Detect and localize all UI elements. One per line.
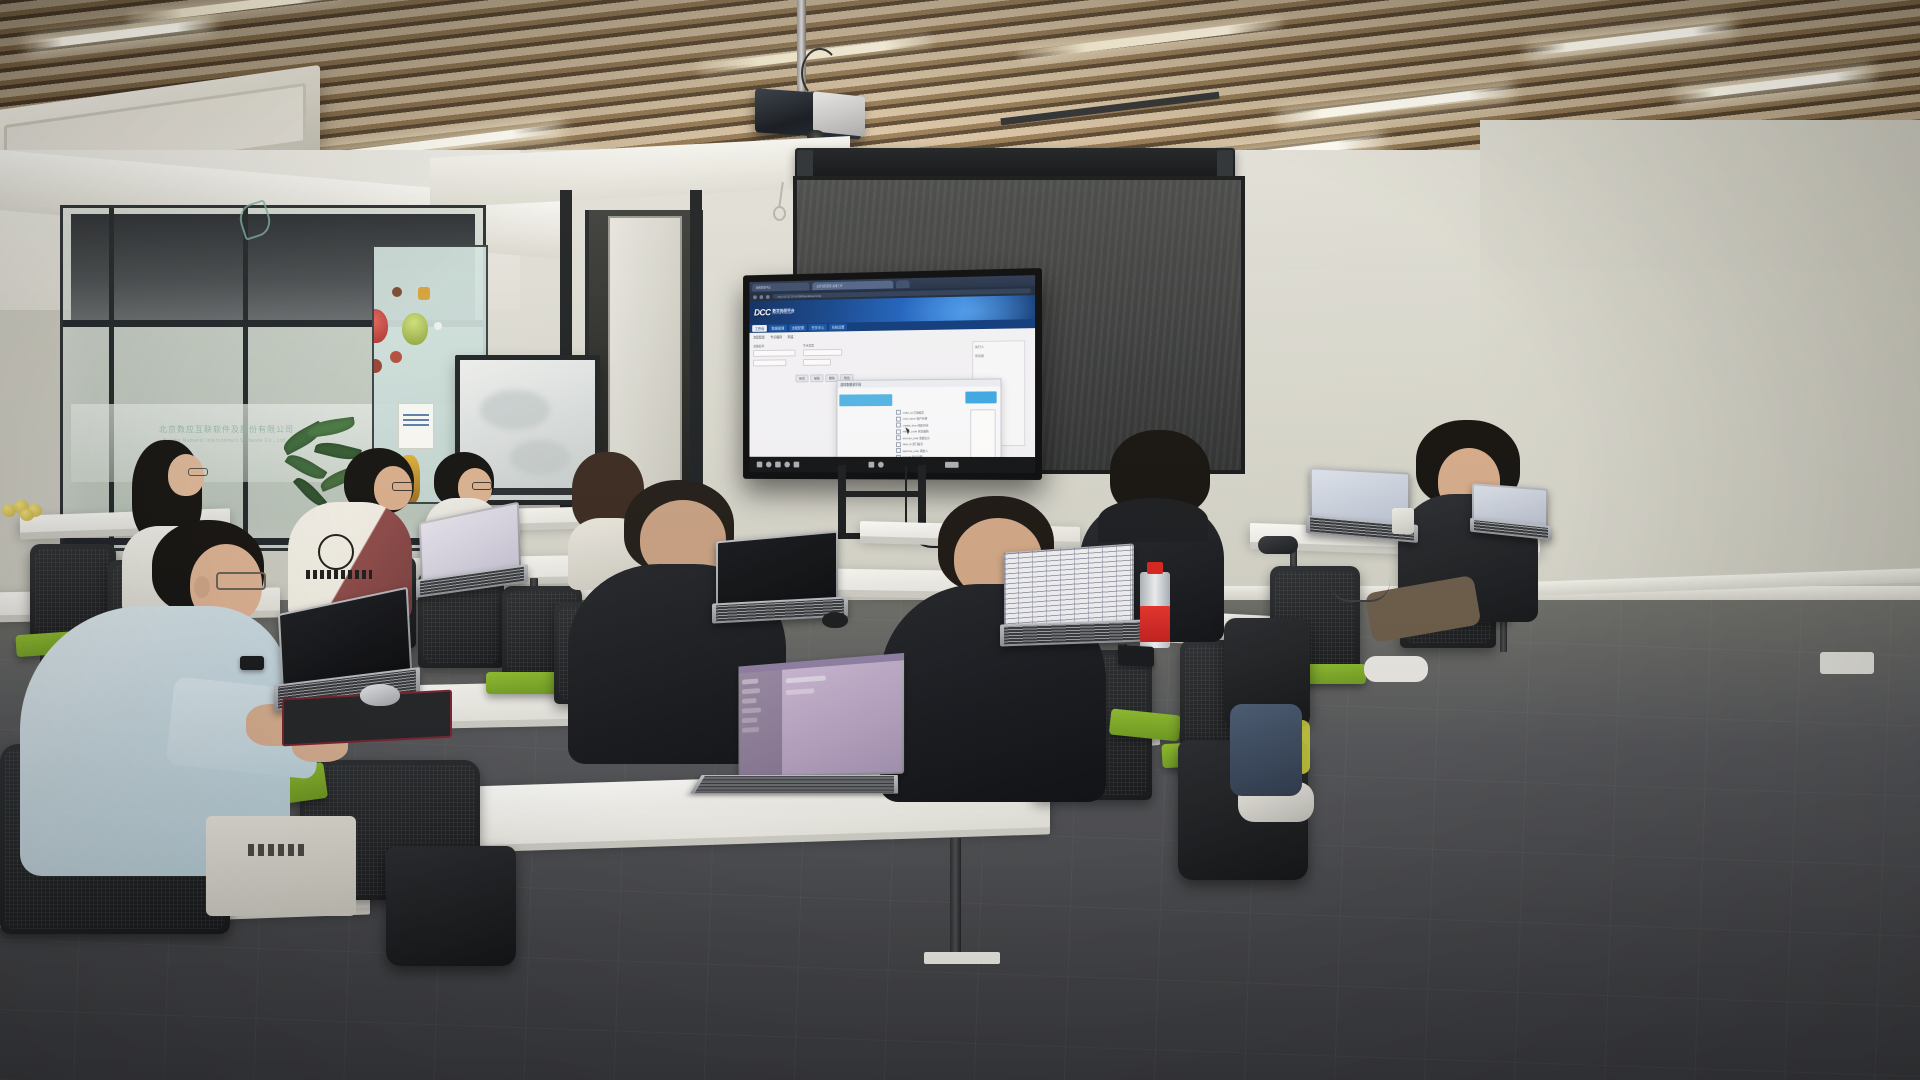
dialog-selected-list[interactable]: [970, 409, 995, 457]
cartoon-sticker: [392, 287, 402, 297]
tree-item-label: order_id 订单编号: [903, 410, 924, 414]
laptop[interactable]: [416, 512, 522, 592]
photo-scene: EXIT 北京数应互联软件及股份有限公司 Beijing Numeric Int…: [0, 0, 1920, 1080]
smartphone[interactable]: [1118, 645, 1154, 667]
tree-item[interactable]: amount_total 金额合计: [896, 435, 930, 440]
field-label: 节点类型: [803, 343, 814, 347]
jeans-leg: [1230, 704, 1302, 796]
breadcrumb-item: 新建: [788, 334, 794, 339]
water-bottle[interactable]: [1140, 562, 1170, 648]
cartoon-sticker: [372, 309, 388, 343]
tree-item-label: approve_user 审批人: [903, 449, 928, 453]
nav-item-settings[interactable]: 系统设置: [829, 323, 847, 330]
interactive-flat-panel-display[interactable]: 系统管理平台 业务流程配置 运维工单 http://10.20.30.41:80…: [743, 268, 1042, 480]
mouse[interactable]: [360, 684, 400, 706]
person-seated: [1398, 420, 1548, 670]
browser-tab-label: 业务流程配置 运维工单: [816, 283, 842, 287]
tree-item[interactable]: order_id 订单编号: [896, 410, 930, 415]
add-button[interactable]: 新增: [795, 375, 808, 383]
smartphone[interactable]: [240, 656, 264, 670]
power-strip: [1820, 652, 1874, 674]
browser-tab-active[interactable]: 业务流程配置 运维工单: [812, 280, 893, 290]
desk-leg: [950, 838, 961, 958]
apps-icon[interactable]: [775, 462, 781, 468]
laptop[interactable]: [1000, 548, 1140, 654]
app-content-area[interactable]: 流程配置 节点编排 新建 流程名称 节点类型 新增: [749, 328, 1035, 457]
dialog-title: 选择数据源字段: [837, 379, 1000, 387]
door-frame-right: [690, 190, 702, 520]
glasses-icon: [472, 482, 492, 490]
ear: [194, 576, 210, 598]
app-logo-mark: DCC: [754, 308, 771, 318]
hood: [1098, 498, 1208, 542]
field-picker-dialog[interactable]: 选择数据源字段 order_id 订单编号 cust_name 客户名称 cre…: [837, 378, 1002, 457]
mouse[interactable]: [822, 612, 848, 628]
wall-poster: [398, 403, 434, 449]
laptop[interactable]: [712, 536, 842, 626]
tree-item[interactable]: status_code 状态编码: [896, 429, 930, 434]
tree-item[interactable]: cust_name 客户名称: [896, 416, 930, 421]
shoe: [1364, 656, 1428, 682]
cartoon-sticker: [372, 359, 382, 373]
backpack: [386, 846, 516, 966]
app-logo: DCC 数字协同平台 DIGITAL COLLAB: [754, 307, 795, 317]
breadcrumb-item[interactable]: 流程配置: [753, 335, 765, 340]
dialog-search-input[interactable]: [839, 394, 892, 406]
cartoon-sticker: [390, 351, 402, 363]
tree-item[interactable]: dept_id 部门编号: [896, 442, 930, 447]
fruit-bowl: [0, 498, 52, 518]
cartoon-sticker: [434, 322, 442, 330]
field-input[interactable]: [753, 359, 786, 366]
conference-webcam: [1258, 536, 1298, 554]
edit-button[interactable]: 编辑: [810, 374, 823, 382]
tote-bag-text: [248, 844, 306, 856]
reload-icon[interactable]: [766, 295, 770, 299]
tote-bag: [206, 816, 356, 916]
desk-foot: [924, 952, 1000, 964]
right-panel-fields: 执行人 优先级: [975, 345, 984, 358]
ceiling-projector: [745, 0, 865, 140]
tree-item-label: cust_name 客户名称: [903, 417, 928, 421]
laptop-screen[interactable]: [740, 655, 902, 776]
laptop[interactable]: [1470, 486, 1550, 542]
tree-item-label: dept_id 部门编号: [903, 442, 923, 446]
partition-company-name-cn: 北京数应互联软件及股份有限公司: [159, 424, 294, 435]
laptop-base[interactable]: [1000, 619, 1146, 646]
browser-tab[interactable]: 系统管理平台: [752, 282, 809, 291]
url-text: http://10.20.30.41:8080/workflow/config: [778, 294, 822, 298]
browser-tab-label: 系统管理平台: [756, 285, 771, 289]
nav-item-flow[interactable]: 流程配置: [789, 324, 807, 331]
jacket-logo: [318, 534, 354, 570]
annotate-icon[interactable]: [784, 462, 790, 468]
laptop-screen[interactable]: [1006, 546, 1132, 633]
cable: [1330, 560, 1390, 602]
screen-pull-ring[interactable]: [773, 206, 786, 221]
back-icon[interactable]: [753, 295, 757, 299]
nav-item-tasks[interactable]: 任务中心: [809, 324, 827, 331]
form-mid-column[interactable]: 节点类型: [803, 343, 854, 366]
nav-item-data[interactable]: 数据管理: [769, 325, 787, 332]
forward-icon[interactable]: [760, 295, 764, 299]
field-label: 流程名称: [753, 344, 764, 348]
display-screen[interactable]: 系统管理平台 业务流程配置 运维工单 http://10.20.30.41:80…: [749, 275, 1035, 457]
dialog-field-tree[interactable]: order_id 订单编号 cust_name 客户名称 create_time…: [896, 410, 930, 457]
coffee-cup: [1392, 508, 1414, 534]
laptop[interactable]: [640, 660, 900, 830]
glasses-icon: [188, 468, 208, 476]
field-label: 优先级: [975, 354, 984, 358]
tree-item-label: amount_total 金额合计: [903, 436, 930, 440]
tree-item[interactable]: create_time 创建时间: [896, 422, 930, 427]
tree-item[interactable]: approve_user 审批人: [896, 448, 930, 453]
field-input[interactable]: [803, 359, 831, 366]
field-input[interactable]: [753, 350, 795, 357]
field-label: 执行人: [975, 345, 984, 349]
breadcrumb-item[interactable]: 节点编排: [770, 334, 782, 339]
dialog-confirm-button[interactable]: [965, 391, 996, 403]
glasses-icon: [392, 482, 414, 491]
laptop-base[interactable]: [690, 775, 898, 794]
volume-icon[interactable]: [794, 462, 800, 468]
cartoon-sticker: [418, 287, 430, 300]
cartoon-sticker: [402, 313, 428, 345]
back-icon[interactable]: [766, 462, 772, 468]
nav-item-workbench[interactable]: 工作台: [752, 325, 767, 332]
glasses-icon: [216, 572, 266, 590]
home-icon[interactable]: [757, 462, 763, 468]
field-select[interactable]: [803, 349, 842, 356]
laptop-lid: [738, 653, 904, 778]
app-logo-subtitle: DIGITAL COLLAB: [772, 313, 794, 316]
form-left-column[interactable]: 流程名称: [753, 344, 797, 367]
new-tab-button[interactable]: [896, 280, 909, 288]
